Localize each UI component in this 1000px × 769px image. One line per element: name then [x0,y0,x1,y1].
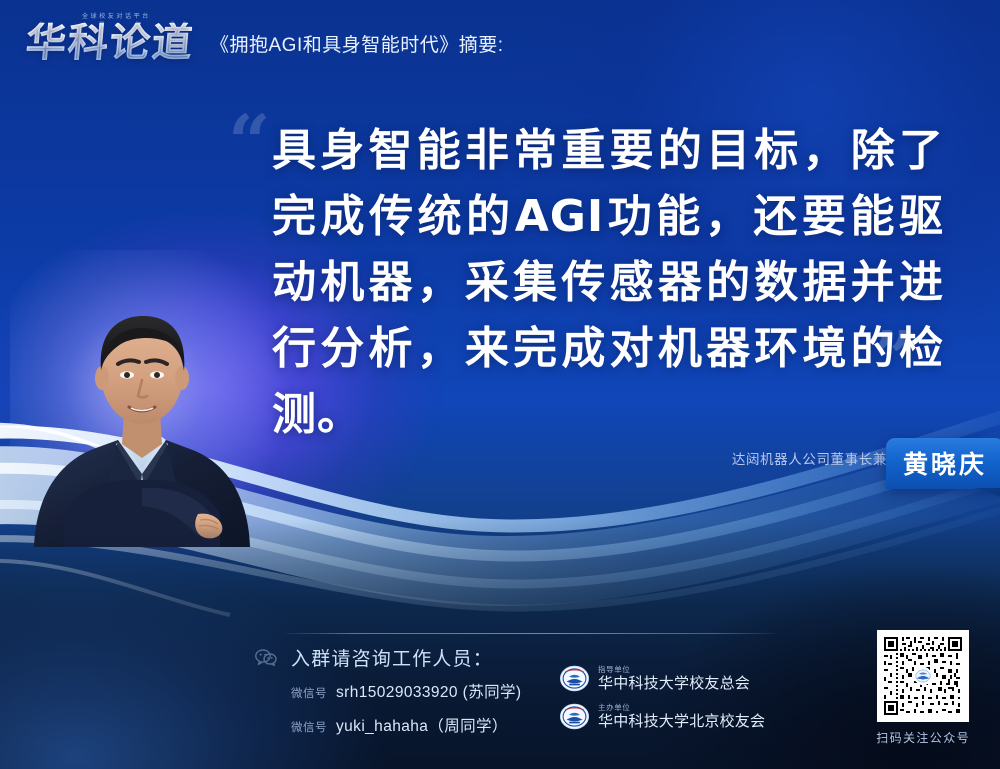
brand-logo: 全球校友对话平台 华科论道 [26,14,194,63]
poster-header: 全球校友对话平台 华科论道 《拥抱AGI和具身智能时代》摘要: [26,14,504,63]
qr-section: 扫码关注公众号 [876,630,970,746]
organization-text: 指导单位 华中科技大学校友总会 [598,666,750,692]
logo-wordmark: 华科论道 [24,23,195,63]
organization-item: 主办单位 华中科技大学北京校友会 [560,702,765,731]
contact-value[interactable]: srh15029033920 (苏同学) [336,680,522,702]
quote-close-mark: ” [872,322,915,396]
page-title: 《拥抱AGI和具身智能时代》摘要: [210,30,504,63]
organization-list: 指导单位 华中科技大学校友总会 主办单位 华中科技大学北京校友会 [560,664,765,740]
logo-tagline: 全球校友对话平台 [82,11,151,20]
poster-canvas: 全球校友对话平台 华科论道 《拥抱AGI和具身智能时代》摘要: “ 具身智能非常… [0,0,1000,769]
hust-seal-icon [560,702,589,731]
qr-caption: 扫码关注公众号 [876,729,970,746]
contact-value[interactable]: yuki_hahaha（周同学） [336,714,508,736]
quote-open-mark: “ [228,106,271,180]
qr-code-icon[interactable] [877,630,969,722]
organization-name: 华中科技大学北京校友会 [598,714,765,730]
organization-text: 主办单位 华中科技大学北京校友会 [598,704,765,730]
organization-name: 华中科技大学校友总会 [598,676,750,692]
wechat-icon [255,649,277,666]
contact-label: 微信号 [291,685,327,701]
quote-text: 具身智能非常重要的目标，除了完成传统的AGI功能，还要能驱动机器，采集传感器的数… [272,118,944,448]
organization-kind: 主办单位 [598,704,765,712]
organization-item: 指导单位 华中科技大学校友总会 [560,664,765,693]
contact-label: 微信号 [291,719,327,735]
speaker-name-badge: 黄晓庆 [886,438,1000,489]
footer-heading: 入群请咨询工作人员： [291,644,493,671]
footer-divider [285,633,775,634]
organization-kind: 指导单位 [598,666,750,674]
hust-seal-icon [560,664,589,693]
